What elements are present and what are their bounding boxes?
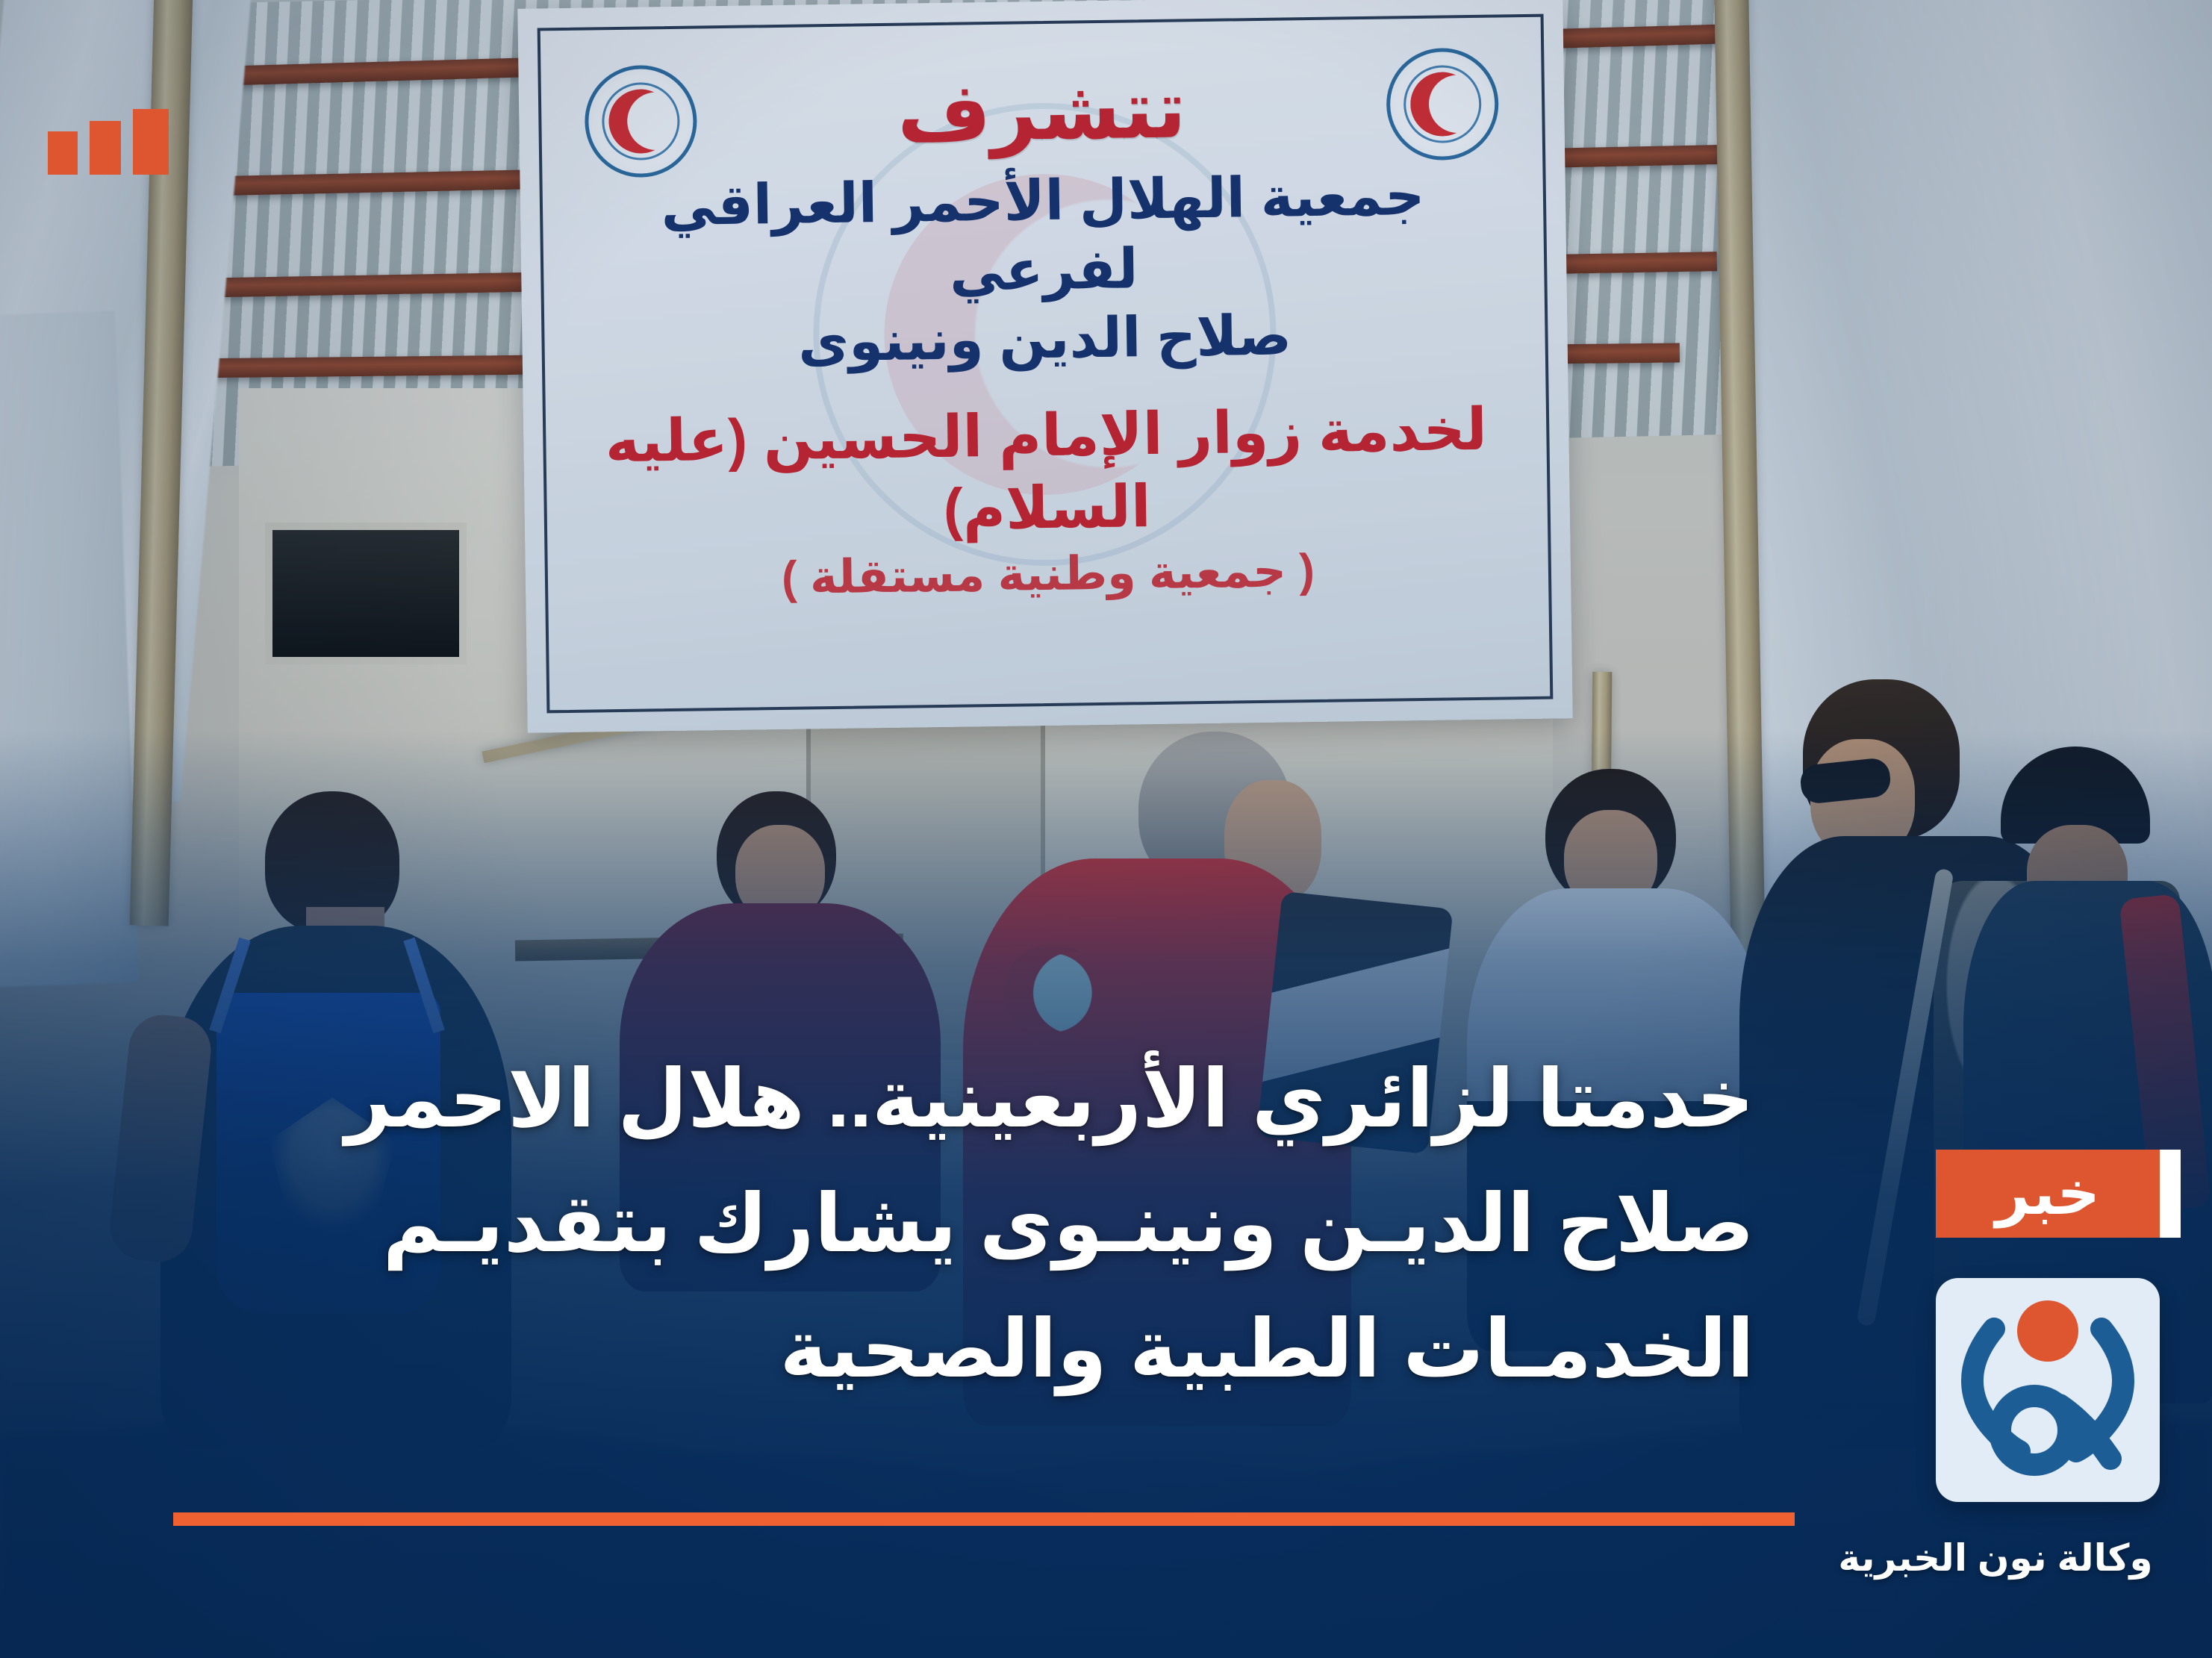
news-card: تتشرف جمعية الهلال الأحمر العراقي لفرعي …: [0, 0, 2212, 1658]
headline-text: خدمتا لزائري الأربعينية.. هلال الاحمر صل…: [142, 1036, 1754, 1411]
bar-1: [133, 109, 169, 175]
news-tag-badge: خبر: [1936, 1150, 2160, 1238]
news-tag-label: خبر: [1996, 1164, 2100, 1224]
orange-divider: [173, 1512, 1795, 1526]
bar-2: [90, 121, 121, 175]
logo-noon-glyph-icon: [1951, 1312, 2145, 1483]
agency-name: وكالة نون الخبرية: [1831, 1536, 2160, 1580]
three-bar-mark-icon: [48, 109, 169, 175]
brand-column: خبر وكالة نون الخبرية: [1831, 1150, 2160, 1580]
agency-logo[interactable]: [1936, 1278, 2160, 1502]
bar-3: [48, 131, 78, 175]
